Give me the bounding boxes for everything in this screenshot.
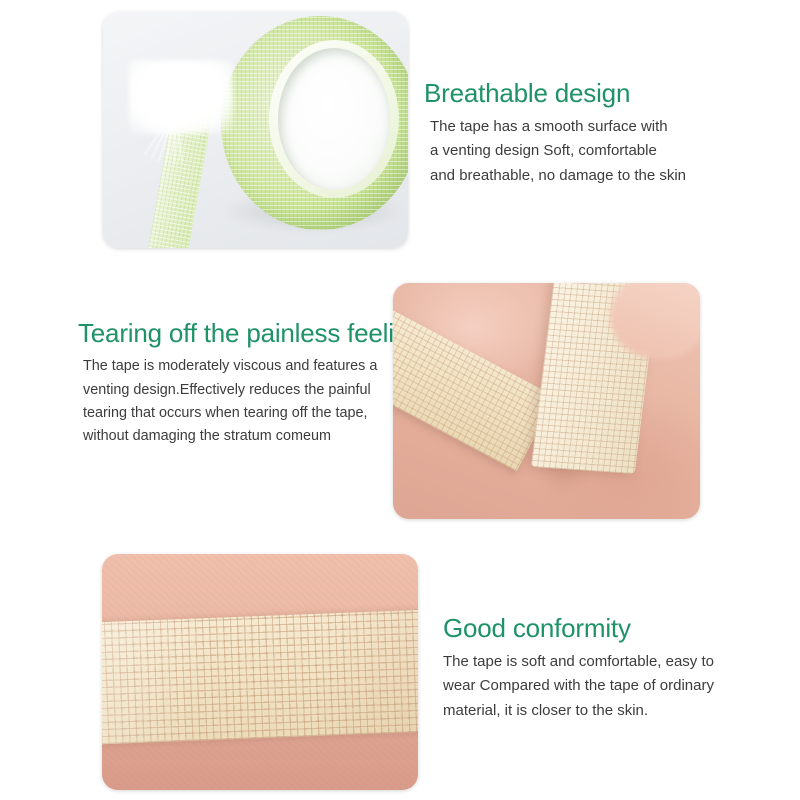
applied-tape-band: [102, 610, 418, 745]
body-line: and breathable, no damage to the skin: [430, 164, 792, 188]
feature-body-breathable: The tape has a smooth surface with a ven…: [424, 115, 792, 188]
body-line: a venting design Soft, comfortable: [430, 139, 792, 163]
tape-band-on-skin-photo: [102, 554, 418, 790]
body-line: material, it is closer to the skin.: [443, 699, 793, 723]
body-line: without damaging the stratum comeum: [83, 425, 408, 448]
green-tape-roll-photo: [103, 12, 408, 248]
feature-title-tearing: Tearing off the painless feeling: [78, 318, 408, 349]
feature-text-tearing: Tearing off the painless feeling The tap…: [78, 318, 408, 449]
body-line: wear Compared with the tape of ordinary: [443, 674, 793, 698]
airflow-fibers: [169, 108, 239, 178]
tape-peeling-off-skin-photo: [393, 283, 700, 519]
feature-body-conformity: The tape is soft and comfortable, easy t…: [443, 650, 793, 723]
body-line: The tape is soft and comfortable, easy t…: [443, 650, 793, 674]
infographic-page: Breathable design The tape has a smooth …: [0, 0, 800, 800]
body-line: venting design.Effectively reduces the p…: [83, 379, 408, 402]
body-line: tearing that occurs when tearing off the…: [83, 402, 408, 425]
feature-text-conformity: Good conformity The tape is soft and com…: [443, 613, 793, 723]
feature-body-tearing: The tape is moderately viscous and featu…: [78, 355, 408, 448]
feature-title-breathable: Breathable design: [424, 78, 792, 109]
feature-title-conformity: Good conformity: [443, 613, 793, 644]
body-line: The tape has a smooth surface with: [430, 115, 792, 139]
body-line: The tape is moderately viscous and featu…: [83, 355, 408, 378]
tape-roll-core-hole: [278, 48, 390, 190]
feature-text-breathable: Breathable design The tape has a smooth …: [424, 78, 792, 188]
